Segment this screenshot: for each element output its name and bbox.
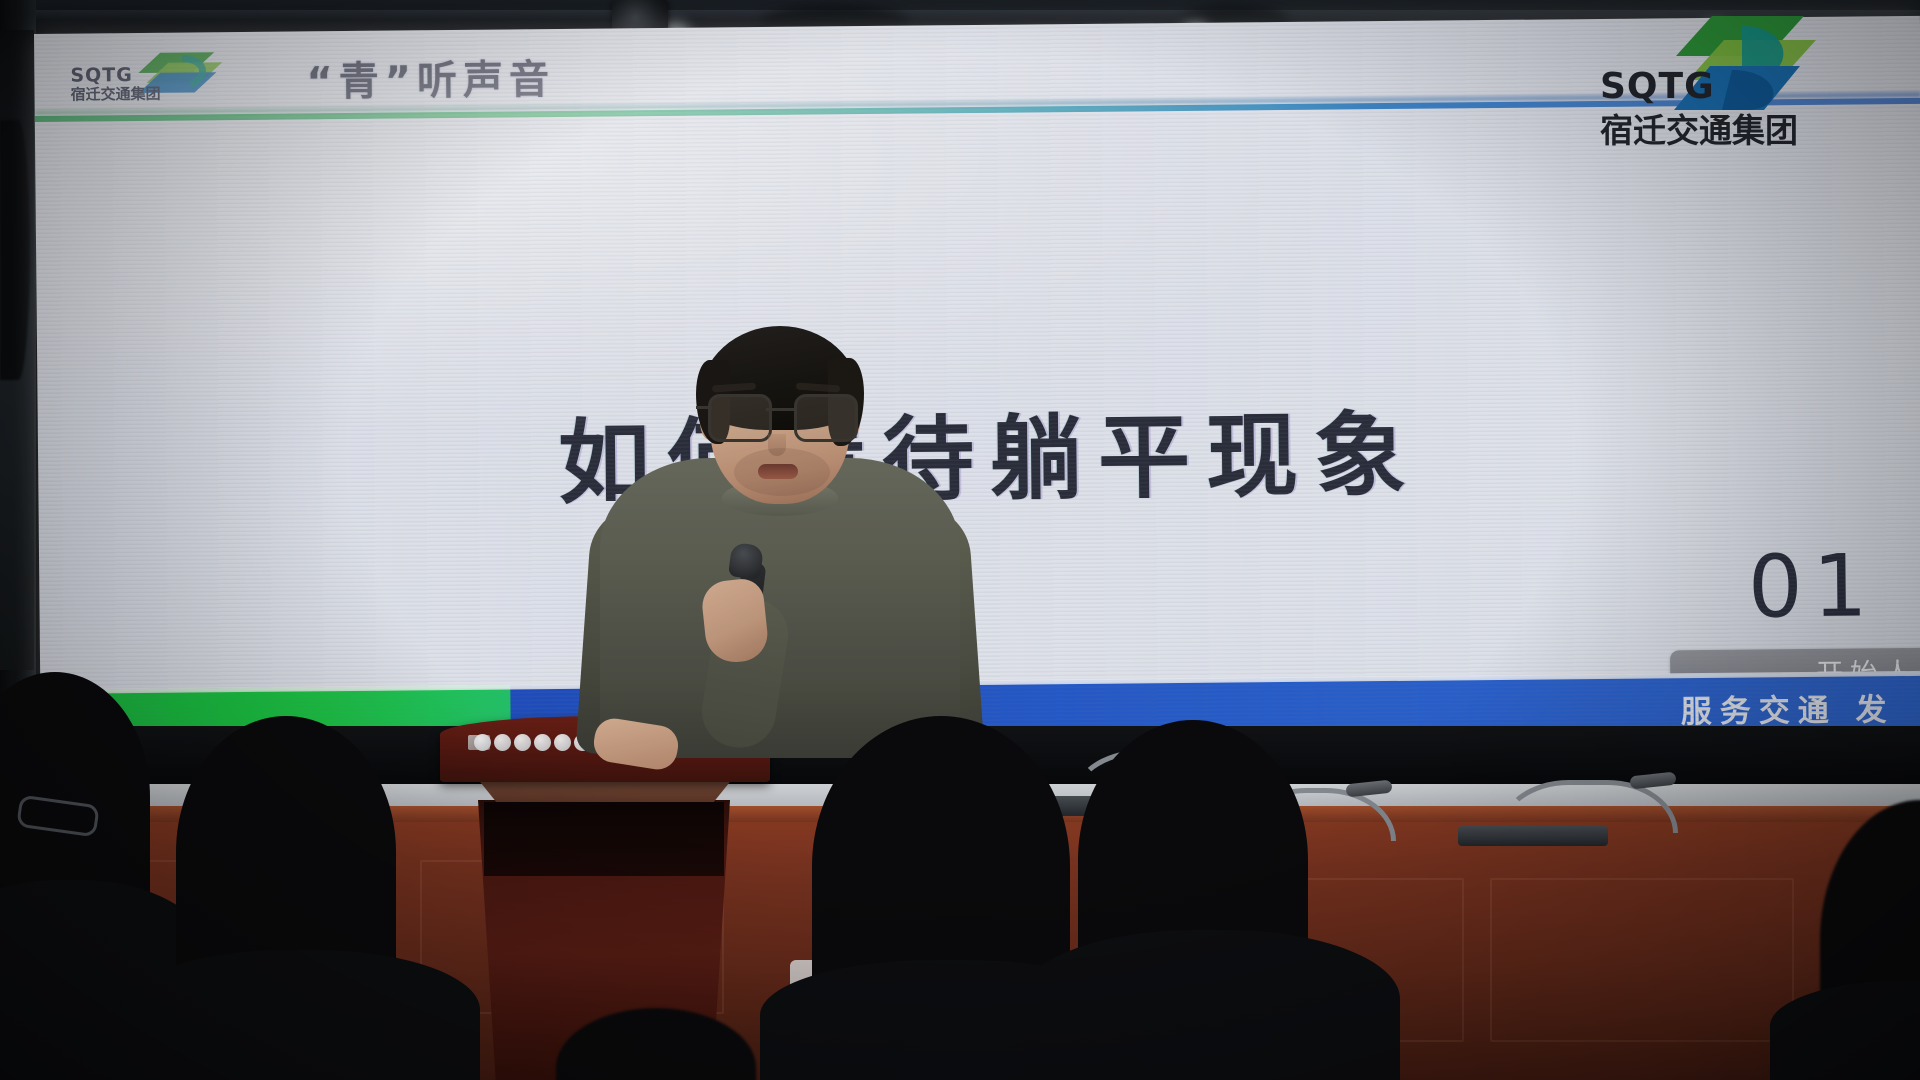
table-panel xyxy=(1490,878,1794,1042)
wall-speaker xyxy=(0,120,30,380)
svg-text:SQTG: SQTG xyxy=(1600,66,1715,107)
photo-scene: SQTG 宿迁交通集团 “青”听声音 如何看待躺平现象 01 开始人 服务交通 … xyxy=(0,0,1920,1080)
svg-text:SQTG: SQTG xyxy=(70,64,133,87)
audience-body xyxy=(1020,930,1400,1080)
speaker-mouth xyxy=(758,464,798,479)
speaker-person xyxy=(600,330,960,750)
header-logo: SQTG 宿迁交通集团 xyxy=(64,46,245,104)
sqtg-logo-icon: SQTG 宿迁交通集团 xyxy=(1592,14,1842,154)
podium-recess xyxy=(484,802,724,876)
slide-footer-text: 服务交通 发 xyxy=(1681,684,1895,731)
slide-program-title: “青”听声音 xyxy=(306,47,555,107)
podium-control-buttons[interactable] xyxy=(474,734,591,751)
svg-text:宿迁交通集团: 宿迁交通集团 xyxy=(1600,111,1798,150)
slide-section-number: 01 xyxy=(1747,536,1877,637)
corner-logo: SQTG 宿迁交通集团 xyxy=(1592,14,1842,154)
microphone-head-icon xyxy=(728,542,764,580)
eyeglasses-icon xyxy=(704,394,858,438)
audience-body xyxy=(120,950,480,1080)
audience-head xyxy=(176,716,396,988)
svg-text:宿迁交通集团: 宿迁交通集团 xyxy=(70,85,160,104)
sqtg-logo-icon: SQTG 宿迁交通集团 xyxy=(64,46,245,104)
